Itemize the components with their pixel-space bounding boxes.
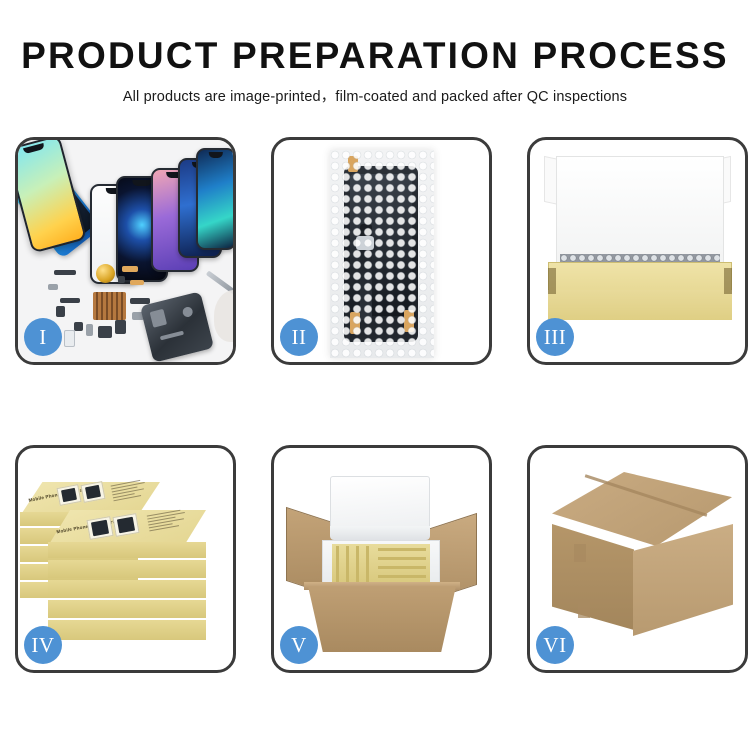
carton-tape-bottom-icon (578, 600, 590, 618)
panel-frame: III (527, 137, 748, 365)
panel-frame: I (15, 137, 236, 365)
phone-teal-icon (196, 148, 233, 250)
header: PRODUCT PREPARATION PROCESS All products… (0, 34, 750, 107)
bubble-wrap-bag-icon (330, 150, 434, 358)
panel-frame: Mobile Phone Spare Parts (15, 445, 236, 673)
part-ribbon-icon (130, 298, 150, 304)
box-corner-right-icon (724, 268, 732, 294)
carton-tape-top-icon (574, 544, 586, 562)
page-title: PRODUCT PREPARATION PROCESS (0, 34, 750, 78)
part-bar-icon (54, 270, 76, 275)
panel-frame: VI (527, 445, 748, 673)
panel-frame: V (271, 445, 492, 673)
part-camera-icon (56, 306, 65, 317)
part-flex2-icon (130, 280, 144, 285)
part-bracket-icon (86, 324, 93, 336)
step-badge-2: II (280, 318, 318, 356)
part-clip-icon (48, 284, 58, 290)
box-label-image-4 (112, 513, 139, 537)
step-badge-6: VI (536, 626, 574, 664)
box-label-image-3 (86, 516, 113, 540)
part-button-icon (74, 322, 83, 331)
part-module-icon (98, 326, 112, 338)
step-card-6[interactable]: VI (527, 445, 748, 673)
step-card-4[interactable]: Mobile Phone Spare Parts (15, 445, 236, 673)
page-subtitle: All products are image-printed，film-coat… (0, 87, 750, 107)
bubble-texture (330, 150, 434, 358)
process-steps-grid: I I (15, 137, 748, 682)
inner-boxes-icon (332, 544, 430, 584)
box-front-icon (548, 290, 732, 320)
speaker-coil-icon (96, 264, 115, 283)
step-card-5[interactable]: V (271, 445, 492, 673)
part-speaker-icon (115, 320, 126, 334)
step-badge-4: IV (24, 626, 62, 664)
step-card-1[interactable]: I (15, 137, 236, 365)
foam-lid-edge-icon (330, 526, 430, 540)
step-badge-1: I (24, 318, 62, 356)
part-chip-icon (118, 276, 125, 283)
carton-left-face-icon (552, 524, 634, 630)
connector-grid-icon (93, 292, 126, 320)
carton-body-icon (308, 586, 456, 652)
step-badge-5: V (280, 626, 318, 664)
step-card-3[interactable]: III (527, 137, 748, 365)
part-sim-tray-icon (64, 330, 75, 347)
step-badge-3: III (536, 318, 574, 356)
box-lid-icon (556, 156, 724, 268)
step-card-2[interactable]: II (271, 137, 492, 365)
product-preparation-infographic: PRODUCT PREPARATION PROCESS All products… (0, 0, 750, 750)
panel-frame: II (271, 137, 492, 365)
box-corner-left-icon (548, 268, 556, 294)
part-flex-icon (122, 266, 138, 272)
part-cable-icon (60, 298, 80, 303)
